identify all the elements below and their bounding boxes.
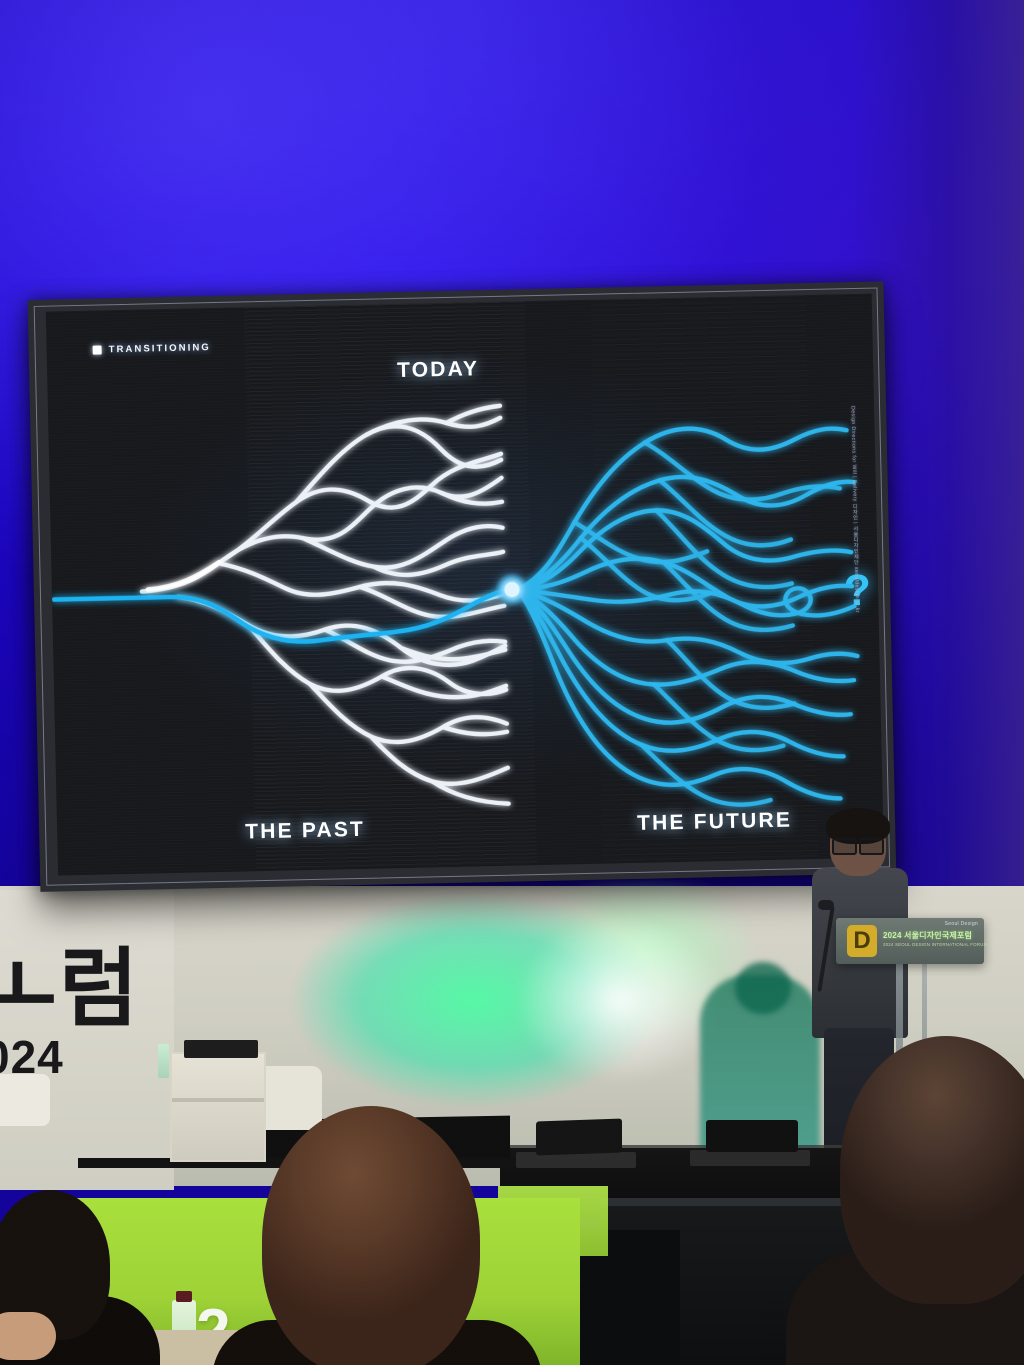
podium-sign: D 2024 서울디자인국제포럼 2024 SEOUL DESIGN INTER… (836, 918, 984, 964)
conference-photo-scene: ㅗ럼 024 TRANSITIONING (0, 0, 1024, 1365)
slide-credit-text: Design Directions for Will | Delivery 디자… (850, 406, 862, 613)
audience-head-center (262, 1106, 480, 1365)
design-logo-icon: D (847, 925, 877, 957)
slide-canvas: TRANSITIONING (46, 294, 884, 876)
podium-sponsor-mark: Seoul Design (945, 921, 978, 927)
speaker-glasses-icon (832, 838, 884, 851)
backdrop-shadow-head (735, 962, 791, 1014)
microphone-head (818, 900, 834, 910)
stage-monitor-left (536, 1118, 622, 1155)
stage-monitor-right (706, 1120, 798, 1152)
label-the-future: THE FUTURE (637, 809, 792, 836)
equipment-box (184, 1040, 258, 1058)
stage-riser-left (516, 1152, 636, 1168)
audience-hand-left (0, 1312, 56, 1360)
banner-korean-text: ㅗ럼 (0, 918, 140, 1043)
backdrop-banner-left: ㅗ럼 024 (0, 890, 174, 1190)
podium-subtitle: 2024 SEOUL DESIGN INTERNATIONAL FORUM (883, 942, 987, 947)
stage-riser-right (690, 1150, 810, 1166)
equipment-bottle (158, 1044, 169, 1078)
presentation-screen: TRANSITIONING (28, 281, 897, 892)
podium-title: 2024 서울디자인국제포럼 (883, 930, 972, 941)
white-chair-left (0, 1074, 50, 1126)
label-the-past: THE PAST (245, 818, 365, 845)
equipment-table (170, 1052, 266, 1162)
